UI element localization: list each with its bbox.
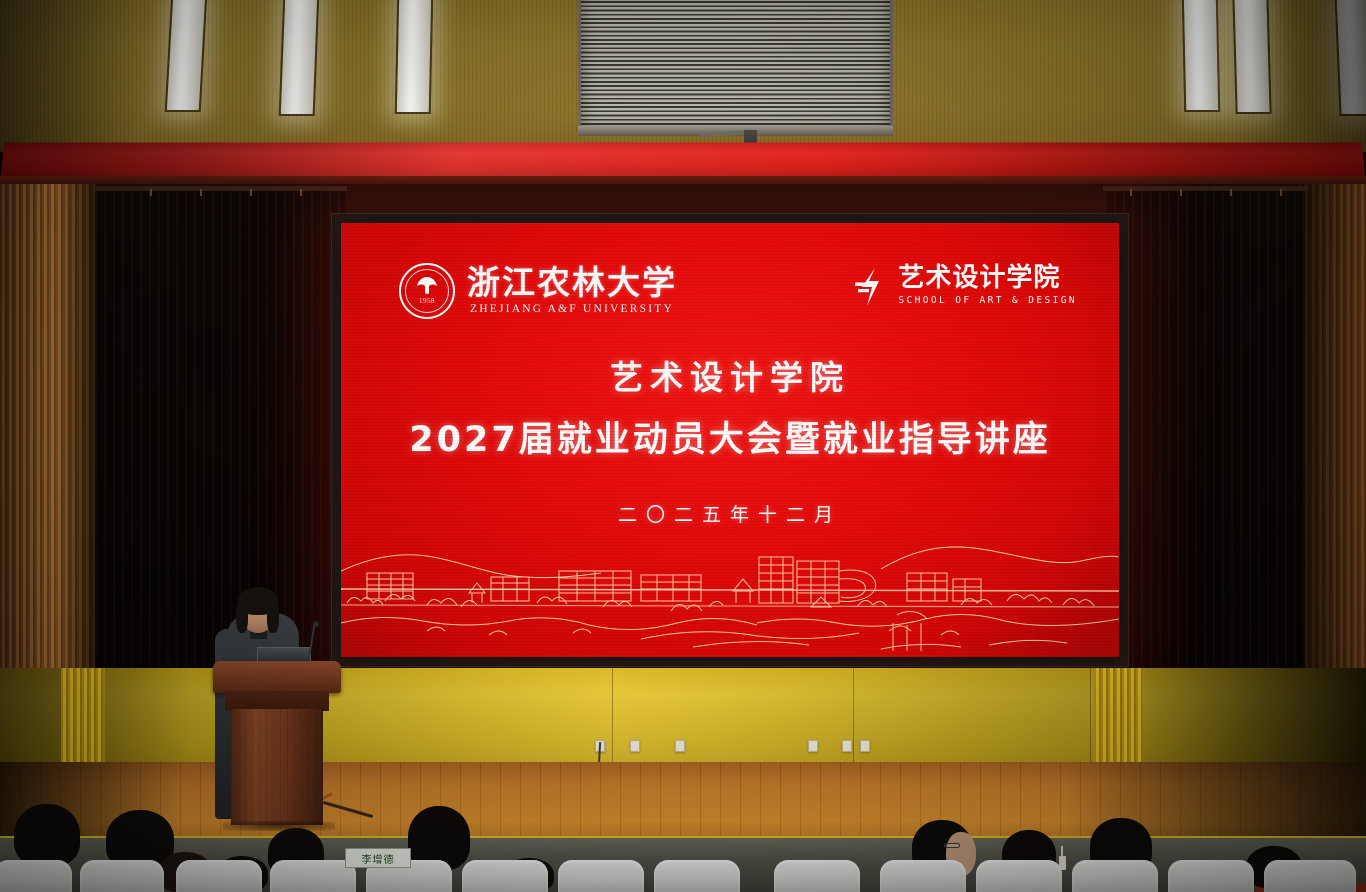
audience-chair xyxy=(0,860,72,892)
wall-seam xyxy=(612,668,613,764)
audience-chair xyxy=(976,860,1062,892)
podium-body: 1958 xyxy=(231,709,323,825)
wall-seam xyxy=(1090,668,1091,764)
title-line-1: 艺术设计学院 xyxy=(341,351,1119,399)
wall-seam xyxy=(853,668,854,764)
curtain-hook xyxy=(200,189,202,196)
wood-slat-panel-left xyxy=(0,184,100,684)
curtain-hook xyxy=(300,189,302,196)
speaker-hair-right xyxy=(267,601,279,633)
ceiling-light-right-1 xyxy=(1182,0,1220,112)
university-logo: 1958 浙江农林大学 ZHEJIANG A&F UNIVERSITY xyxy=(399,263,677,319)
screen-date-line: 二〇二五年十二月 xyxy=(341,500,1119,527)
podium-and-speaker[interactable]: 1958 xyxy=(205,585,350,845)
audience-chair xyxy=(1168,860,1254,892)
curtain-rail-right xyxy=(1103,186,1308,191)
audience-chair xyxy=(558,860,644,892)
speaker-hair-left xyxy=(236,601,248,633)
art-design-mark-icon xyxy=(855,267,889,307)
curtain-hook xyxy=(1130,189,1132,196)
podium-neck xyxy=(225,691,329,711)
microphone-icon xyxy=(313,621,319,627)
ceiling-light-left-2 xyxy=(279,0,320,116)
ceiling-shadow-right xyxy=(1226,0,1366,152)
wall-outlet[interactable] xyxy=(630,740,640,752)
curtain-hook xyxy=(1280,189,1282,196)
eyeglasses-icon xyxy=(944,843,960,848)
school-name-cn: 艺术设计学院 xyxy=(898,265,1077,292)
ceiling-light-left-3 xyxy=(395,0,434,114)
wall-outlet[interactable] xyxy=(842,740,852,752)
table-nameplate: 李增德 xyxy=(345,848,411,868)
wall-outlet[interactable] xyxy=(860,740,870,752)
school-name-en: SCHOOL OF ART & DESIGN xyxy=(898,295,1077,306)
podium-top xyxy=(213,661,341,693)
audience-chair xyxy=(176,860,262,892)
campus-skyline-graphic xyxy=(341,527,1119,657)
audience-chair xyxy=(654,860,740,892)
audience-head xyxy=(14,804,80,866)
curtain-hook xyxy=(150,189,152,196)
wall-outlet[interactable] xyxy=(675,740,685,752)
audience-chair xyxy=(80,860,164,892)
curtain-rail-left xyxy=(95,186,347,191)
auditorium-scene: 1958 浙江农林大学 ZHEJIANG A&F UNIVERSITY 艺术设计 xyxy=(0,0,1366,892)
university-name-en: ZHEJIANG A&F UNIVERSITY xyxy=(470,303,674,315)
ceiling-light-left-1 xyxy=(165,0,208,112)
nameplate-text: 李增德 xyxy=(362,851,395,866)
curtain-hook xyxy=(1230,189,1232,196)
drink-straw xyxy=(1061,846,1063,856)
audience-chair xyxy=(1072,860,1158,892)
audience-chair xyxy=(462,860,548,892)
university-name-cn: 浙江农林大学 xyxy=(467,267,677,302)
audience-chair xyxy=(1264,860,1356,892)
wall-outlet[interactable] xyxy=(808,740,818,752)
emblem-year: 1958 xyxy=(401,297,453,305)
audience-chair xyxy=(774,860,860,892)
ventilation-grille xyxy=(578,0,893,132)
wood-slat-panel-right xyxy=(1296,184,1366,684)
curtain-hook xyxy=(1180,189,1182,196)
audience-chair xyxy=(880,860,966,892)
audience-chair xyxy=(270,860,356,892)
school-logo: 艺术设计学院 SCHOOL OF ART & DESIGN xyxy=(855,265,1077,307)
ceiling-shadow-left xyxy=(0,0,140,152)
screen-logo-row: 1958 浙江农林大学 ZHEJIANG A&F UNIVERSITY 艺术设计 xyxy=(341,255,1119,327)
screen-title-block: 艺术设计学院 2027届就业动员大会暨就业指导讲座 xyxy=(341,351,1119,462)
tree-emblem-icon: 1958 xyxy=(399,263,455,319)
title-line-2: 2027届就业动员大会暨就业指导讲座 xyxy=(341,411,1119,462)
podium-shadow xyxy=(223,821,335,831)
led-screen[interactable]: 1958 浙江农林大学 ZHEJIANG A&F UNIVERSITY 艺术设计 xyxy=(341,223,1119,657)
curtain-hook xyxy=(250,189,252,196)
stage-curtain-right xyxy=(1105,186,1305,686)
